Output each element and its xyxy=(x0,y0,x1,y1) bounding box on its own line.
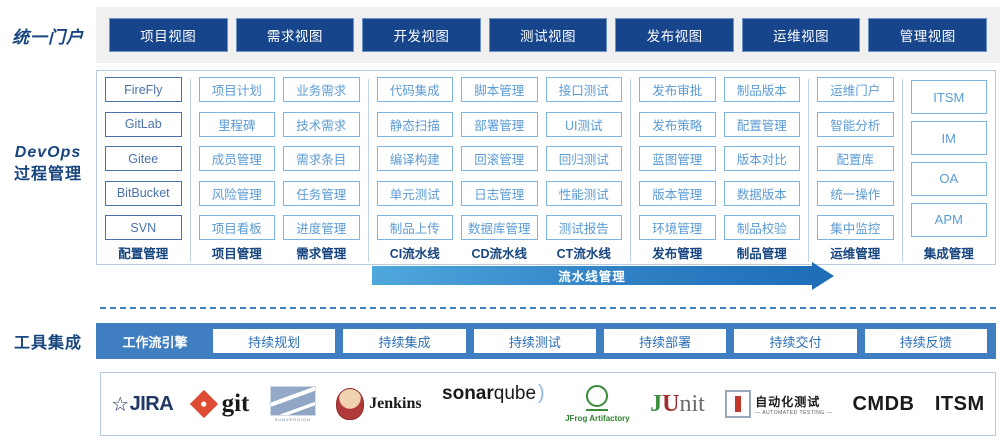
column-divider xyxy=(368,79,369,262)
devops-cell[interactable]: GitLab xyxy=(105,112,182,137)
sonarqube-logo-light: qube xyxy=(494,383,536,405)
devops-column-items: 项目计划 里程碑 成员管理 风险管理 项目看板 xyxy=(199,77,276,240)
subversion-logo-text: SUBVERSION xyxy=(275,417,311,422)
devops-cell[interactable]: 进度管理 xyxy=(283,215,360,240)
devops-column-title: 需求管理 xyxy=(283,240,360,264)
git-logo: ● git xyxy=(194,382,250,426)
jira-logo-text: JIRA xyxy=(130,393,174,416)
git-diamond-icon: ● xyxy=(189,390,217,418)
portal-view-bar: 项目视图 需求视图 开发视图 测试视图 发布视图 运维视图 管理视图 xyxy=(96,7,1000,63)
jira-mark-icon: ☆ xyxy=(111,392,128,417)
devops-column-title: 制品管理 xyxy=(724,240,801,264)
portal-section-label: 统一门户 xyxy=(0,23,96,48)
portal-view-button[interactable]: 运维视图 xyxy=(743,19,860,51)
devops-cell[interactable]: FireFly xyxy=(105,77,182,102)
pipeline-arrow: 流水线管理 xyxy=(372,266,834,285)
devops-column-items: ITSM IM OA APM xyxy=(911,77,988,240)
tools-row: 工具集成 工作流引擎 持续规划 持续集成 持续测试 持续部署 持续交付 持续反馈 xyxy=(0,318,1000,364)
cmdb-logo: CMDB xyxy=(852,382,914,426)
devops-label-cn: 过程管理 xyxy=(0,164,96,186)
devops-column-ci: 代码集成 静态扫描 编译构建 单元测试 制品上传 CI流水线 xyxy=(373,77,458,264)
devops-cell[interactable]: APM xyxy=(911,203,988,237)
devops-column-items: 接口测试 UI测试 回归测试 性能测试 测试报告 xyxy=(546,77,623,240)
devops-cell[interactable]: 编译构建 xyxy=(377,146,454,171)
junit-j-letter: J xyxy=(650,391,662,418)
subversion-mark-icon xyxy=(270,386,316,416)
devops-section-label: DevOps 过程管理 xyxy=(0,70,96,185)
workflow-engine-label: 工作流引擎 xyxy=(101,332,209,351)
tools-section-label: 工具集成 xyxy=(0,329,96,353)
devops-cell[interactable]: 业务需求 xyxy=(283,77,360,102)
cmdb-logo-text: CMDB xyxy=(852,393,914,416)
tool-logo-strip: ☆JIRA ● git SUBVERSION Jenkins sonarqube… xyxy=(100,372,996,436)
devops-cell[interactable]: 日志管理 xyxy=(461,181,538,206)
devops-cell[interactable]: 部署管理 xyxy=(461,112,538,137)
devops-cell[interactable]: 数据库管理 xyxy=(461,215,538,240)
junit-logo: JUnit xyxy=(650,382,705,426)
devops-cell[interactable]: 脚本管理 xyxy=(461,77,538,102)
devops-cell[interactable]: 发布策略 xyxy=(639,112,716,137)
devops-cell[interactable]: 制品校验 xyxy=(724,215,801,240)
arrow-head-icon xyxy=(812,262,834,290)
workflow-stage[interactable]: 持续交付 xyxy=(734,329,856,353)
devops-cell[interactable]: 环境管理 xyxy=(639,215,716,240)
automated-testing-logo-text: 自动化测试 xyxy=(755,393,832,410)
column-divider xyxy=(808,79,809,262)
portal-view-button[interactable]: 需求视图 xyxy=(237,19,354,51)
workflow-stage[interactable]: 持续部署 xyxy=(604,329,726,353)
devops-cell[interactable]: IM xyxy=(911,121,988,155)
devops-column-cd: 脚本管理 部署管理 回滚管理 日志管理 数据库管理 CD流水线 xyxy=(457,77,542,264)
devops-cell[interactable]: 版本对比 xyxy=(724,146,801,171)
git-logo-text: git xyxy=(222,390,250,418)
devops-label-en: DevOps xyxy=(0,142,96,164)
column-divider xyxy=(190,79,191,262)
devops-column-items: FireFly GitLab Gitee BitBucket SVN xyxy=(105,77,182,240)
devops-cell[interactable]: 蓝图管理 xyxy=(639,146,716,171)
devops-cell[interactable]: OA xyxy=(911,162,988,196)
jenkins-logo: Jenkins xyxy=(336,382,421,426)
portal-view-button[interactable]: 项目视图 xyxy=(110,19,227,51)
devops-cell[interactable]: 版本管理 xyxy=(639,181,716,206)
jira-logo: ☆JIRA xyxy=(111,382,173,426)
devops-column-title: CT流水线 xyxy=(546,240,623,264)
devops-cell[interactable]: 配置库 xyxy=(817,146,894,171)
devops-column-title: 发布管理 xyxy=(639,240,716,264)
jfrog-ring-icon xyxy=(586,385,608,407)
devops-cell[interactable]: 项目看板 xyxy=(199,215,276,240)
devops-cell[interactable]: BitBucket xyxy=(105,181,182,206)
pipeline-arrow-label: 流水线管理 xyxy=(372,266,812,285)
devops-cell[interactable]: 里程碑 xyxy=(199,112,276,137)
devops-cell[interactable]: 接口测试 xyxy=(546,77,623,102)
jfrog-logo-text: JFrog Artifactory xyxy=(565,414,630,423)
portal-view-button[interactable]: 发布视图 xyxy=(616,19,733,51)
devops-cell[interactable]: 性能测试 xyxy=(546,181,623,206)
devops-column-artifact: 制品版本 配置管理 版本对比 数据版本 制品校验 制品管理 xyxy=(720,77,805,264)
devops-column-project: 项目计划 里程碑 成员管理 风险管理 项目看板 项目管理 xyxy=(195,77,280,264)
devops-cell[interactable]: 运维门户 xyxy=(817,77,894,102)
itsm-logo-text: ITSM xyxy=(935,393,985,416)
devops-column-items: 脚本管理 部署管理 回滚管理 日志管理 数据库管理 xyxy=(461,77,538,240)
devops-cell[interactable]: 统一操作 xyxy=(817,181,894,206)
devops-column-release: 发布审批 发布策略 蓝图管理 版本管理 环境管理 发布管理 xyxy=(635,77,720,264)
devops-cell[interactable]: SVN xyxy=(105,215,182,240)
section-divider xyxy=(100,307,996,309)
devops-cell[interactable]: 回归测试 xyxy=(546,146,623,171)
devops-cell[interactable]: 成员管理 xyxy=(199,146,276,171)
devops-cell[interactable]: 技术需求 xyxy=(283,112,360,137)
devops-column-items: 代码集成 静态扫描 编译构建 单元测试 制品上传 xyxy=(377,77,454,240)
devops-cell[interactable]: 数据版本 xyxy=(724,181,801,206)
workflow-stage[interactable]: 持续反馈 xyxy=(865,329,987,353)
devops-column-items: 业务需求 技术需求 需求条目 任务管理 进度管理 xyxy=(283,77,360,240)
automated-testing-logo: 自动化测试 — AUTOMATED TESTING — xyxy=(725,382,832,426)
devops-column-title: 配置管理 xyxy=(105,240,182,264)
devops-column-items: 制品版本 配置管理 版本对比 数据版本 制品校验 xyxy=(724,77,801,240)
devops-cell[interactable]: 集中监控 xyxy=(817,215,894,240)
devops-cell[interactable]: 需求条目 xyxy=(283,146,360,171)
workflow-stage-bar: 工作流引擎 持续规划 持续集成 持续测试 持续部署 持续交付 持续反馈 xyxy=(96,323,996,359)
jenkins-butler-icon xyxy=(336,388,364,420)
itsm-logo: ITSM xyxy=(935,382,985,426)
devops-capability-panel: FireFly GitLab Gitee BitBucket SVN 配置管理 … xyxy=(96,70,996,265)
devops-column-operations: 运维门户 智能分析 配置库 统一操作 集中监控 运维管理 xyxy=(813,77,898,264)
devops-column-title: CD流水线 xyxy=(461,240,538,264)
jfrog-artifactory-logo: JFrog Artifactory xyxy=(565,382,630,426)
automated-testing-logo-subtitle: — AUTOMATED TESTING — xyxy=(755,410,832,416)
devops-column-config: FireFly GitLab Gitee BitBucket SVN 配置管理 xyxy=(101,77,186,264)
devops-column-title: CI流水线 xyxy=(377,240,454,264)
devops-cell[interactable]: 风险管理 xyxy=(199,181,276,206)
workflow-stage[interactable]: 持续集成 xyxy=(343,329,465,353)
automated-testing-mark-icon xyxy=(725,390,751,418)
column-divider xyxy=(630,79,631,262)
devops-column-items: 发布审批 发布策略 蓝图管理 版本管理 环境管理 xyxy=(639,77,716,240)
devops-cell[interactable]: 智能分析 xyxy=(817,112,894,137)
devops-cell[interactable]: 静态扫描 xyxy=(377,112,454,137)
devops-column-requirement: 业务需求 技术需求 需求条目 任务管理 进度管理 需求管理 xyxy=(279,77,364,264)
sonar-wave-icon: ) xyxy=(538,382,545,405)
devops-cell[interactable]: 发布审批 xyxy=(639,77,716,102)
portal-view-button[interactable]: 开发视图 xyxy=(363,19,480,51)
devops-column-ct: 接口测试 UI测试 回归测试 性能测试 测试报告 CT流水线 xyxy=(542,77,627,264)
workflow-stage[interactable]: 持续规划 xyxy=(213,329,335,353)
workflow-stage[interactable]: 持续测试 xyxy=(474,329,596,353)
devops-cell[interactable]: 回滚管理 xyxy=(461,146,538,171)
jfrog-underline-icon xyxy=(586,409,608,411)
devops-cell[interactable]: 项目计划 xyxy=(199,77,276,102)
devops-cell[interactable]: 测试报告 xyxy=(546,215,623,240)
devops-cell[interactable]: 代码集成 xyxy=(377,77,454,102)
devops-column-title: 运维管理 xyxy=(817,240,894,264)
sonarqube-logo-bold: sonar xyxy=(442,383,494,405)
devops-cell[interactable]: UI测试 xyxy=(546,112,623,137)
junit-u-letter: U xyxy=(662,391,679,418)
devops-column-title: 集成管理 xyxy=(911,240,988,264)
devops-cell[interactable]: 制品版本 xyxy=(724,77,801,102)
sonarqube-logo: sonarqube) xyxy=(442,382,545,426)
devops-row: DevOps 过程管理 FireFly GitLab Gitee BitBuck… xyxy=(0,70,1000,295)
devops-column-title: 项目管理 xyxy=(199,240,276,264)
portal-view-button[interactable]: 管理视图 xyxy=(869,19,986,51)
devops-cell[interactable]: ITSM xyxy=(911,80,988,114)
devops-column-items: 运维门户 智能分析 配置库 统一操作 集中监控 xyxy=(817,77,894,240)
devops-cell[interactable]: Gitee xyxy=(105,146,182,171)
column-divider xyxy=(902,79,903,262)
portal-view-button[interactable]: 测试视图 xyxy=(490,19,607,51)
devops-cell[interactable]: 任务管理 xyxy=(283,181,360,206)
junit-logo-text: nit xyxy=(679,391,704,418)
devops-cell[interactable]: 配置管理 xyxy=(724,112,801,137)
devops-cell[interactable]: 单元测试 xyxy=(377,181,454,206)
subversion-logo: SUBVERSION xyxy=(270,382,316,426)
jenkins-logo-text: Jenkins xyxy=(369,395,421,413)
devops-column-integration: ITSM IM OA APM 集成管理 xyxy=(907,77,992,264)
devops-cell[interactable]: 制品上传 xyxy=(377,215,454,240)
portal-row: 统一门户 项目视图 需求视图 开发视图 测试视图 发布视图 运维视图 管理视图 xyxy=(0,0,1000,70)
